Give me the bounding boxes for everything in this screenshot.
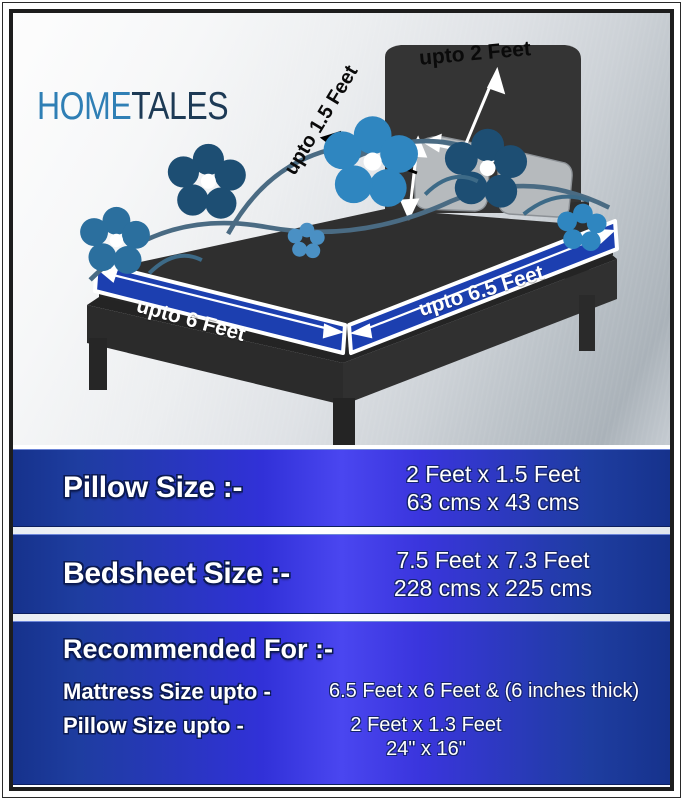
recommended-title: Recommended For :- [13, 634, 670, 665]
panel-bedsheet-size: Bedsheet Size :- 7.5 Feet x 7.3 Feet 228… [13, 534, 670, 614]
pillow-size-feet: 2 Feet x 1.5 Feet [343, 460, 643, 488]
logo-wordmark: HOMETALES [37, 85, 228, 129]
pillow-upto-inches: 24" x 16" [311, 737, 541, 761]
bed-illustration-scene: HOMETALES upto 2 Feet upto 1.5 Feet upto… [13, 13, 670, 445]
logo-home-text: HOME [37, 85, 131, 128]
panel-pillow-size: Pillow Size :- 2 Feet x 1.5 Feet 63 cms … [13, 449, 670, 527]
panel-separator-1 [13, 527, 670, 534]
pillow-size-label: Pillow Size :- [13, 471, 343, 505]
pillow-upto-feet: 2 Feet x 1.3 Feet [311, 713, 541, 737]
logo-flowers [80, 116, 606, 274]
recommended-row-mattress: Mattress Size upto - 6.5 Feet x 6 Feet &… [13, 679, 670, 705]
pillow-upto-key: Pillow Size upto - [63, 713, 311, 739]
bedsheet-size-values: 7.5 Feet x 7.3 Feet 228 cms x 225 cms [343, 546, 643, 602]
bedsheet-size-feet: 7.5 Feet x 7.3 Feet [343, 546, 643, 574]
recommended-row-pillow: Pillow Size upto - 2 Feet x 1.3 Feet 24"… [13, 713, 670, 761]
pillow-size-cms: 63 cms x 43 cms [343, 488, 643, 516]
pillow-upto-values: 2 Feet x 1.3 Feet 24" x 16" [311, 713, 541, 761]
pillow-size-values: 2 Feet x 1.5 Feet 63 cms x 43 cms [343, 460, 643, 516]
infographic-root: HOMETALES upto 2 Feet upto 1.5 Feet upto… [0, 0, 683, 800]
bedsheet-size-label: Bedsheet Size :- [13, 557, 343, 591]
panel-separator-2 [13, 614, 670, 621]
panel-recommended-for: Recommended For :- Mattress Size upto - … [13, 621, 670, 785]
mattress-size-key: Mattress Size upto - [63, 679, 329, 705]
spec-panels: Pillow Size :- 2 Feet x 1.5 Feet 63 cms … [13, 447, 670, 787]
bedsheet-size-cms: 228 cms x 225 cms [343, 574, 643, 602]
logo-tales-text: TALES [131, 85, 228, 128]
mattress-size-value: 6.5 Feet x 6 Feet & (6 inches thick) [329, 679, 639, 703]
brand-logo: HOMETALES [31, 31, 231, 123]
